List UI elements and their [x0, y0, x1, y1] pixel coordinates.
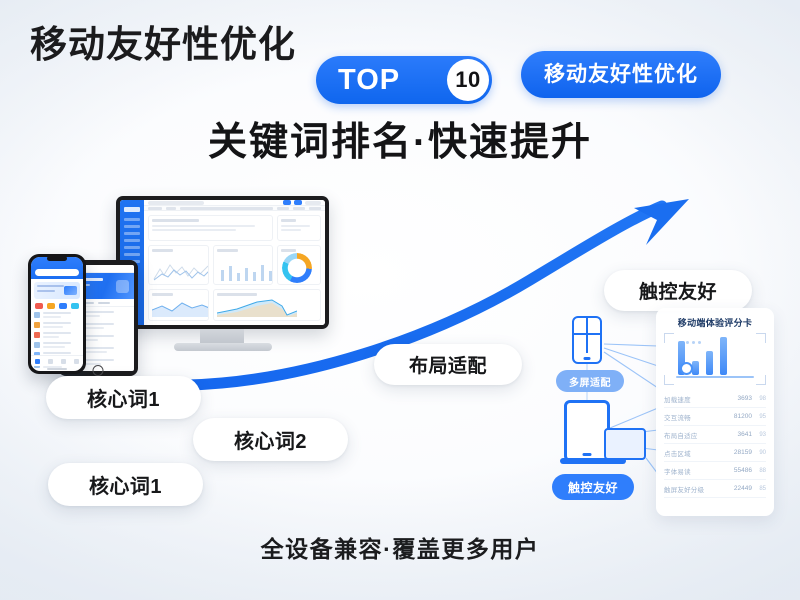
- sidebar-nav-item: [124, 232, 140, 235]
- chart-bracket: [664, 375, 674, 385]
- filter-chip: [309, 207, 321, 210]
- sidebar-nav-item: [124, 239, 140, 242]
- card-title-bar: [152, 219, 199, 222]
- phone-search-bar: [35, 269, 79, 276]
- scorecard-row: 加载速度369398: [664, 390, 766, 408]
- card-title-bar: [217, 293, 257, 296]
- filter-chip: [277, 207, 289, 210]
- card-title-bar: [217, 249, 238, 252]
- topbar-action-chip: [283, 200, 291, 205]
- header-tag-pill: 移动友好性优化: [521, 51, 721, 98]
- dashboard-main: [144, 200, 325, 325]
- phone-mockup: [28, 254, 86, 374]
- card-title-bar: [281, 219, 295, 222]
- touch-friendly-pill: 触控友好: [552, 474, 634, 500]
- filter-spacer: [180, 207, 273, 210]
- tabbar-item: [61, 359, 66, 364]
- phone-screen: [31, 257, 83, 371]
- monitor-screen: [120, 200, 325, 325]
- quick-icon: [47, 303, 55, 309]
- topbar-breadcrumb: [148, 201, 204, 205]
- phone-split-line: [586, 318, 588, 353]
- phone-quick-icons: [31, 302, 83, 312]
- scorecard-row-label: 加载速度: [664, 394, 730, 404]
- top-badge-number-circle: 10: [447, 59, 489, 101]
- chart-bar: [706, 351, 713, 375]
- topbar-action-chip: [294, 200, 302, 205]
- list-item-icon: [34, 322, 40, 328]
- banner-line: [37, 285, 64, 287]
- dashboard-card-area2: [213, 289, 321, 321]
- scorecard-row-label: 触屏友好分级: [664, 484, 730, 494]
- keyword-pill-1: 核心词1: [46, 376, 201, 419]
- scorecard-row-pct: 90: [752, 450, 766, 456]
- page-subtitle: 关键词排名·快速提升: [0, 123, 800, 162]
- chart-bar: [692, 361, 699, 375]
- sidebar-nav-item: [124, 225, 140, 228]
- sidebar-nav-item: [124, 253, 140, 256]
- top-badge-number: 10: [455, 69, 480, 91]
- card-lines: [281, 225, 317, 231]
- filter-chip: [166, 207, 176, 210]
- page-title: 移动友好性优化: [30, 26, 296, 63]
- list-item-text: [43, 312, 80, 318]
- device-mockup-group: [28, 196, 348, 381]
- scorecard-row-label: 交互流畅: [664, 412, 730, 422]
- scorecard-row: 触屏友好分级2244985: [664, 480, 766, 498]
- scorecard-row-label: 布局自适应: [664, 430, 730, 440]
- laptop-base: [560, 458, 626, 464]
- phone-tabbar: [31, 355, 83, 366]
- scorecard-row-value: 81200: [730, 413, 752, 420]
- poster-canvas: 移动友好性优化 TOP 10 移动友好性优化 关键词排名·快速提升: [0, 0, 800, 600]
- donut-chart-icon: [282, 253, 312, 283]
- keyword-pill-2: 核心词2: [193, 418, 348, 461]
- layout-adaptation-label: 布局适配: [374, 344, 522, 385]
- chart-bar: [720, 337, 727, 375]
- card-title-bar: [152, 293, 173, 296]
- chart-bracket: [756, 333, 766, 343]
- list-item-icon: [34, 342, 40, 348]
- dashboard-card-filters: [148, 215, 273, 241]
- chart-bracket: [664, 333, 674, 343]
- monitor-stand-foot: [174, 343, 272, 351]
- dashboard-grid: [144, 211, 325, 325]
- keyword-pill-3: 核心词1: [48, 463, 203, 506]
- banner-card-graphic: [64, 286, 77, 295]
- scorecard-row: 字体易读5548688: [664, 462, 766, 480]
- dashboard-card-donut: [277, 245, 321, 285]
- scorecard-row-pct: 95: [752, 414, 766, 420]
- tabbar-item: [35, 359, 40, 364]
- card-title-bar: [281, 249, 295, 252]
- scorecard-row-pct: 98: [752, 396, 766, 402]
- scorecard-row-pct: 85: [752, 486, 766, 492]
- tablet-home-dot: [583, 453, 592, 456]
- tabbar-item: [48, 359, 53, 364]
- scorecard-row-label: 点击区域: [664, 448, 730, 458]
- scorecard-row-value: 22449: [730, 485, 752, 492]
- quick-icon: [59, 303, 67, 309]
- scorecard-row-value: 28159: [730, 449, 752, 456]
- monitor-bezel: [116, 196, 329, 329]
- scorecard-row: 点击区域2815990: [664, 444, 766, 462]
- desktop-monitor-mockup: [116, 196, 329, 351]
- phone-promo-banner: [34, 282, 80, 299]
- scorecard-chart: [664, 333, 766, 385]
- list-item-icon: [34, 312, 40, 318]
- mobile-scorecard-panel: 移动端体验评分卡 加载速度369398交互流畅8120095布局自适应36419…: [656, 308, 774, 516]
- hero-illustration: [116, 280, 129, 293]
- chart-baseline: [676, 376, 754, 378]
- tabbar-item: [74, 359, 79, 364]
- phone-divider-line: [574, 333, 600, 335]
- top-rank-badge: TOP 10: [316, 56, 492, 104]
- list-item-text: [43, 342, 80, 348]
- list-item-text: [43, 332, 80, 338]
- phone-notch: [47, 256, 67, 261]
- scorecard-title: 移动端体验评分卡: [664, 316, 766, 329]
- dashboard-card-barchart: [213, 245, 274, 285]
- topbar-avatar: [305, 201, 321, 205]
- device-compatibility-infographic: 多屏适配 触控友好 移动端体验评分卡 加载速度369398交互流畅8120095…: [548, 308, 774, 520]
- touch-friendly-label: 触控友好: [604, 270, 752, 311]
- footer-caption: 全设备兼容·覆盖更多用户: [0, 530, 800, 564]
- bar-chart-icon: [217, 261, 274, 281]
- area-chart-icon: [152, 297, 209, 317]
- quick-icon: [71, 303, 79, 309]
- list-item: [34, 312, 80, 318]
- filter-chip: [293, 207, 305, 210]
- area-chart-icon: [217, 297, 297, 317]
- banner-line: [37, 290, 55, 292]
- scorecard-row-pct: 88: [752, 468, 766, 474]
- tab-item: [98, 302, 110, 304]
- small-laptop-icon: [604, 428, 646, 460]
- scorecard-row-value: 3693: [730, 395, 752, 402]
- list-item: [34, 322, 80, 328]
- chart-bracket: [756, 375, 766, 385]
- scorecard-row-pct: 93: [752, 432, 766, 438]
- dashboard-card-linechart: [148, 245, 209, 285]
- tablet-home-button: [93, 365, 104, 376]
- sidebar-nav-item: [124, 246, 140, 249]
- multiscreen-pill: 多屏适配: [556, 370, 624, 392]
- scorecard-row-value: 3641: [730, 431, 752, 438]
- header-tag-label: 移动友好性优化: [544, 64, 698, 85]
- list-item-text: [43, 322, 80, 328]
- sidebar-nav-item: [124, 218, 140, 221]
- list-item-icon: [34, 332, 40, 338]
- list-item: [34, 342, 80, 348]
- scorecard-row-value: 55486: [730, 467, 752, 474]
- line-chart-icon: [152, 261, 209, 281]
- top-badge-label: TOP: [338, 66, 400, 95]
- dashboard-ui: [120, 200, 325, 325]
- list-item: [34, 332, 80, 338]
- phone-home-dot: [584, 357, 591, 360]
- card-title-bar: [152, 249, 173, 252]
- small-phone-icon: [572, 316, 602, 364]
- quick-icon: [35, 303, 43, 309]
- chart-marker-dot: [680, 362, 693, 375]
- scorecard-rows: 加载速度369398交互流畅8120095布局自适应364193点击区域2815…: [664, 390, 766, 498]
- scorecard-row-label: 字体易读: [664, 466, 730, 476]
- dashboard-card-summary: [277, 215, 321, 241]
- scorecard-row: 交互流畅8120095: [664, 408, 766, 426]
- dashboard-card-area1: [148, 289, 209, 321]
- phone-home-indicator: [47, 368, 67, 370]
- dashboard-logo: [124, 207, 140, 212]
- card-lines: [152, 225, 269, 231]
- filter-chip: [148, 207, 162, 210]
- scorecard-row: 布局自适应364193: [664, 426, 766, 444]
